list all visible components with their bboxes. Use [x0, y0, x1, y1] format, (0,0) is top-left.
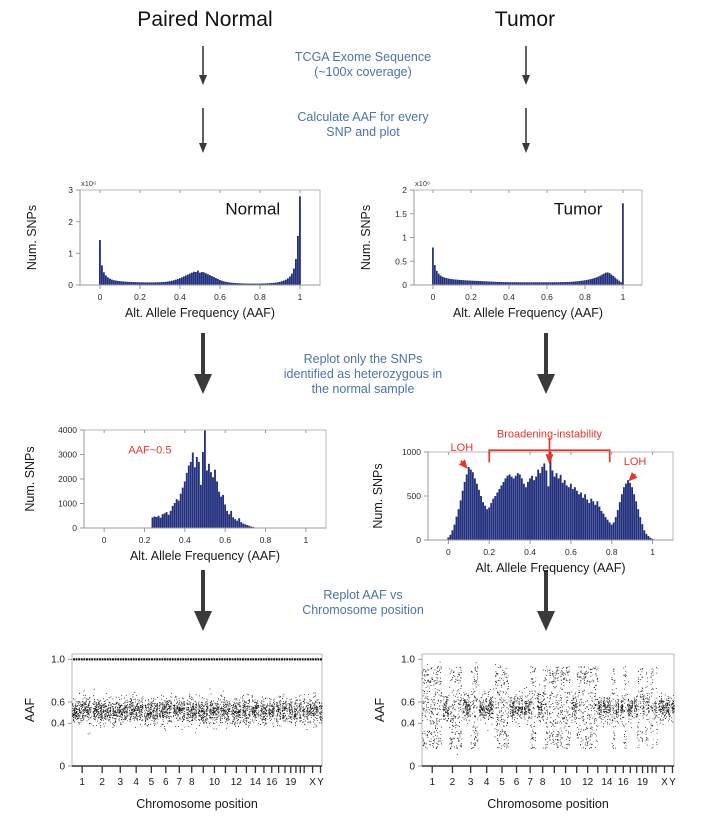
- flow-arrow-normal-sequence: [197, 46, 209, 86]
- flow-arrow-tumor-sequence: [520, 46, 532, 86]
- step-note-replot-position: Replot AAF vs Chromosome position: [258, 588, 468, 618]
- svg-text:0: 0: [431, 292, 436, 302]
- workflow-figure: Paired Normal Tumor TCGA Exome Sequence …: [0, 0, 725, 836]
- svg-text:Num. SNPs: Num. SNPs: [359, 205, 373, 270]
- svg-text:0: 0: [402, 280, 407, 290]
- flow-arrow-normal-calculate: [197, 108, 209, 154]
- svg-text:4000: 4000: [58, 425, 77, 435]
- svg-text:0: 0: [446, 547, 451, 557]
- svg-text:14: 14: [250, 777, 262, 788]
- svg-text:0: 0: [98, 292, 103, 302]
- flow-arrow-tumor-calculate: [520, 108, 532, 154]
- column-title-tumor: Tumor: [415, 8, 635, 32]
- svg-text:LOH: LOH: [624, 456, 647, 468]
- svg-text:Num. SNPs: Num. SNPs: [371, 463, 385, 528]
- step-note-calculate: Calculate AAF for every SNP and plot: [243, 110, 483, 140]
- svg-text:AAF: AAF: [23, 697, 37, 722]
- svg-text:Alt. Allele Frequency (AAF): Alt. Allele Frequency (AAF): [453, 306, 603, 320]
- svg-text:Chromosome position: Chromosome position: [136, 797, 258, 811]
- scatter-points: [422, 655, 675, 765]
- svg-text:0.8: 0.8: [260, 535, 272, 545]
- svg-text:0.8: 0.8: [606, 547, 618, 557]
- svg-text:Y: Y: [317, 777, 324, 788]
- svg-text:6: 6: [163, 777, 169, 788]
- svg-text:x10⁶: x10⁶: [81, 179, 96, 188]
- svg-text:4: 4: [133, 777, 139, 788]
- svg-text:Broadening-instability: Broadening-instability: [497, 428, 603, 440]
- svg-text:1000: 1000: [58, 499, 77, 509]
- svg-text:10: 10: [209, 777, 221, 788]
- svg-text:2: 2: [99, 777, 105, 788]
- flow-arrow-normal-position: [191, 570, 215, 632]
- svg-text:0.2: 0.2: [465, 292, 477, 302]
- svg-text:2: 2: [402, 185, 407, 195]
- svg-text:0.6: 0.6: [219, 535, 231, 545]
- svg-text:1.0: 1.0: [51, 655, 65, 666]
- svg-text:0.8: 0.8: [579, 292, 591, 302]
- svg-text:1: 1: [303, 535, 308, 545]
- svg-text:3: 3: [68, 185, 73, 195]
- svg-text:0.6: 0.6: [565, 547, 577, 557]
- svg-text:0.4: 0.4: [51, 719, 65, 730]
- chart-normal-het-aaf: 00.20.40.60.8101000200030004000Alt. Alle…: [18, 418, 348, 568]
- svg-text:0: 0: [68, 280, 73, 290]
- svg-text:1: 1: [650, 547, 655, 557]
- chart-tumor-all-aaf: 00.20.40.60.8100.511.52x10⁶Alt. Allele F…: [352, 174, 672, 322]
- svg-text:0.8: 0.8: [254, 292, 266, 302]
- svg-text:0.2: 0.2: [483, 547, 495, 557]
- svg-text:2000: 2000: [58, 474, 77, 484]
- chart-normal-aaf-position: 00.40.61.0123456781012141619XYChromosome…: [18, 644, 348, 830]
- svg-text:0.5: 0.5: [395, 256, 407, 266]
- svg-text:X: X: [309, 777, 316, 788]
- svg-text:Alt. Allele Frequency (AAF): Alt. Allele Frequency (AAF): [130, 549, 280, 563]
- svg-text:1000: 1000: [402, 447, 421, 457]
- svg-text:3: 3: [117, 777, 123, 788]
- svg-text:0.4: 0.4: [524, 547, 536, 557]
- svg-text:0.4: 0.4: [174, 292, 186, 302]
- svg-text:0: 0: [72, 523, 77, 533]
- svg-text:Num. SNPs: Num. SNPs: [23, 446, 37, 511]
- svg-text:0: 0: [416, 535, 421, 545]
- svg-text:1: 1: [68, 249, 73, 259]
- svg-text:1: 1: [79, 777, 85, 788]
- svg-text:0.2: 0.2: [139, 535, 151, 545]
- svg-text:AAF~0.5: AAF~0.5: [128, 444, 171, 456]
- chart-tumor-aaf-position: 00.40.61.0123456781012141619XYChromosome…: [368, 644, 702, 830]
- svg-text:0.6: 0.6: [541, 292, 553, 302]
- svg-text:1: 1: [298, 292, 303, 302]
- chart-normal-all-aaf: 00.20.40.60.810123x10⁶Alt. Allele Freque…: [18, 174, 338, 322]
- svg-text:x10⁶: x10⁶: [415, 179, 430, 188]
- svg-text:5: 5: [149, 777, 155, 788]
- svg-text:Alt. Allele Frequency (AAF): Alt. Allele Frequency (AAF): [475, 561, 625, 575]
- column-title-normal: Paired Normal: [60, 8, 350, 32]
- svg-text:500: 500: [407, 491, 421, 501]
- svg-text:0.4: 0.4: [179, 535, 191, 545]
- svg-text:Normal: Normal: [225, 200, 280, 219]
- svg-text:1.5: 1.5: [395, 209, 407, 219]
- svg-text:0: 0: [102, 535, 107, 545]
- svg-text:1: 1: [402, 233, 407, 243]
- scatter-points: [72, 655, 323, 765]
- svg-text:1: 1: [621, 292, 626, 302]
- svg-text:0.6: 0.6: [214, 292, 226, 302]
- step-note-replot-heterozygous: Replot only the SNPs identified as heter…: [258, 352, 468, 397]
- svg-text:3000: 3000: [58, 450, 77, 460]
- svg-text:LOH: LOH: [451, 442, 474, 454]
- svg-text:8: 8: [189, 777, 195, 788]
- flow-arrow-normal-het: [191, 333, 215, 395]
- svg-text:Alt. Allele Frequency (AAF): Alt. Allele Frequency (AAF): [125, 306, 275, 320]
- chart-tumor-het-aaf: 00.20.40.60.8105001000Alt. Allele Freque…: [368, 412, 702, 572]
- svg-text:0: 0: [59, 761, 65, 772]
- step-note-sequence: TCGA Exome Sequence (~100x coverage): [243, 50, 483, 80]
- svg-text:16: 16: [266, 777, 278, 788]
- flow-arrow-tumor-het: [534, 333, 558, 395]
- svg-text:0.4: 0.4: [503, 292, 515, 302]
- svg-text:Tumor: Tumor: [554, 200, 603, 219]
- svg-text:0.6: 0.6: [51, 697, 65, 708]
- svg-text:2: 2: [68, 217, 73, 227]
- flow-arrow-tumor-position: [534, 570, 558, 632]
- svg-text:Num. SNPs: Num. SNPs: [25, 205, 39, 270]
- histogram-bars: [447, 452, 653, 540]
- svg-text:12: 12: [231, 777, 243, 788]
- svg-text:7: 7: [177, 777, 183, 788]
- svg-text:19: 19: [285, 777, 297, 788]
- svg-text:0.2: 0.2: [134, 292, 146, 302]
